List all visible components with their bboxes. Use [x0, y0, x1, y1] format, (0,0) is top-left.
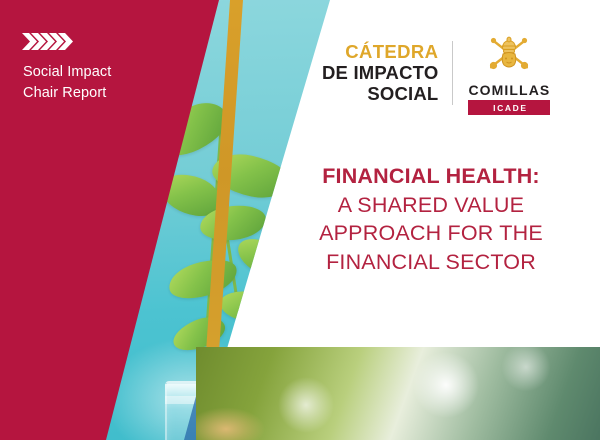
de-impacto-line: DE IMPACTO [322, 62, 438, 83]
title-line-1: FINANCIAL HEALTH: [286, 162, 576, 191]
catedra-wordmark: CÁTEDRA DE IMPACTO SOCIAL [322, 41, 452, 104]
report-title: FINANCIAL HEALTH: A SHARED VALUE APPROAC… [286, 162, 576, 276]
leaf [218, 287, 284, 326]
bokeh-photo-strip [196, 347, 600, 440]
wheat-detail [196, 387, 292, 440]
papal-crest-icon [468, 30, 550, 79]
comillas-logo: COMILLAS ICADE [453, 30, 550, 115]
catedra-line: CÁTEDRA [322, 41, 438, 62]
report-series-label: Social Impact Chair Report [23, 62, 173, 104]
comillas-wordmark: COMILLAS [468, 82, 550, 98]
series-line-1: Social Impact [23, 62, 173, 83]
title-line-2: A SHARED VALUE [286, 191, 576, 220]
title-line-3: APPROACH FOR THE [286, 219, 576, 248]
logo-lockup: CÁTEDRA DE IMPACTO SOCIAL [322, 30, 550, 115]
title-line-4: FINANCIAL SECTOR [286, 248, 576, 277]
double-chevron-right-icon [22, 33, 74, 50]
report-cover: Social Impact Chair Report CÁTEDRA DE IM… [0, 0, 600, 440]
icade-badge: ICADE [468, 100, 550, 115]
social-line: SOCIAL [322, 83, 438, 104]
series-line-2: Chair Report [23, 83, 173, 104]
